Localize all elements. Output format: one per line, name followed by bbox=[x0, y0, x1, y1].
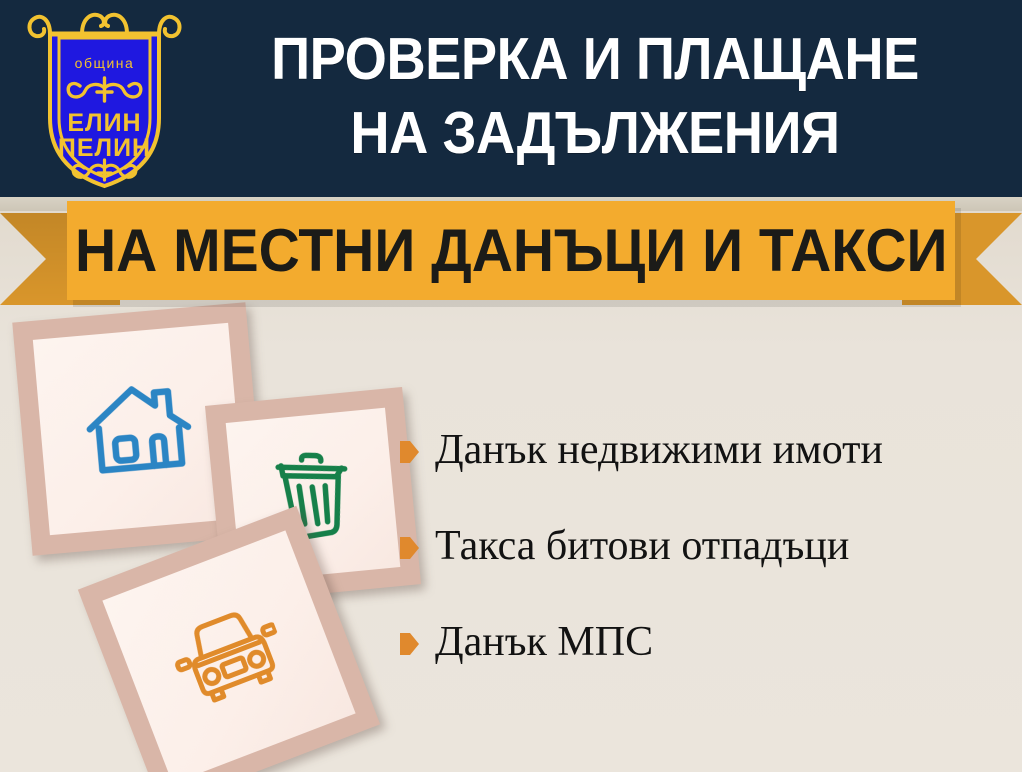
arrow-bullet-icon bbox=[400, 633, 419, 655]
list-item[interactable]: Такса битови отпадъци bbox=[400, 521, 1010, 571]
logo-line-mid: ЕЛИН bbox=[67, 109, 141, 137]
arrow-bullet-icon bbox=[400, 441, 419, 463]
list-item[interactable]: Данък недвижими имоти bbox=[400, 425, 1010, 475]
title-line-2: НА ЗАДЪЛЖЕНИЯ bbox=[222, 96, 967, 170]
ribbon-main-bar: НА МЕСТНИ ДАНЪЦИ И ТАКСИ bbox=[67, 201, 955, 300]
coat-of-arms-icon: община ЕЛИН ПЕЛИН bbox=[22, 8, 187, 190]
logo-line-top: община bbox=[75, 55, 135, 71]
subtitle-ribbon: НА МЕСТНИ ДАНЪЦИ И ТАКСИ bbox=[0, 196, 1022, 308]
poster-canvas: община ЕЛИН ПЕЛИН ПРОВЕРКА И ПЛАЩАНЕ НА … bbox=[0, 0, 1022, 772]
house-icon bbox=[81, 378, 197, 479]
list-item-label: Такса битови отпадъци bbox=[435, 521, 849, 571]
coat-of-arms-logo: община ЕЛИН ПЕЛИН bbox=[22, 8, 187, 190]
arrow-bullet-icon bbox=[400, 537, 419, 559]
logo-line-bottom: ПЕЛИН bbox=[58, 134, 151, 162]
tax-types-list: Данък недвижими имоти Такса битови отпад… bbox=[400, 425, 1010, 713]
list-item[interactable]: Данък МПС bbox=[400, 617, 1010, 667]
page-title: ПРОВЕРКА И ПЛАЩАНЕ НА ЗАДЪЛЖЕНИЯ bbox=[222, 22, 967, 170]
ribbon-label: НА МЕСТНИ ДАНЪЦИ И ТАКСИ bbox=[75, 221, 948, 281]
car-icon bbox=[163, 598, 295, 717]
list-item-label: Данък недвижими имоти bbox=[435, 425, 883, 475]
list-item-label: Данък МПС bbox=[435, 617, 653, 667]
title-line-1: ПРОВЕРКА И ПЛАЩАНЕ bbox=[222, 22, 967, 96]
